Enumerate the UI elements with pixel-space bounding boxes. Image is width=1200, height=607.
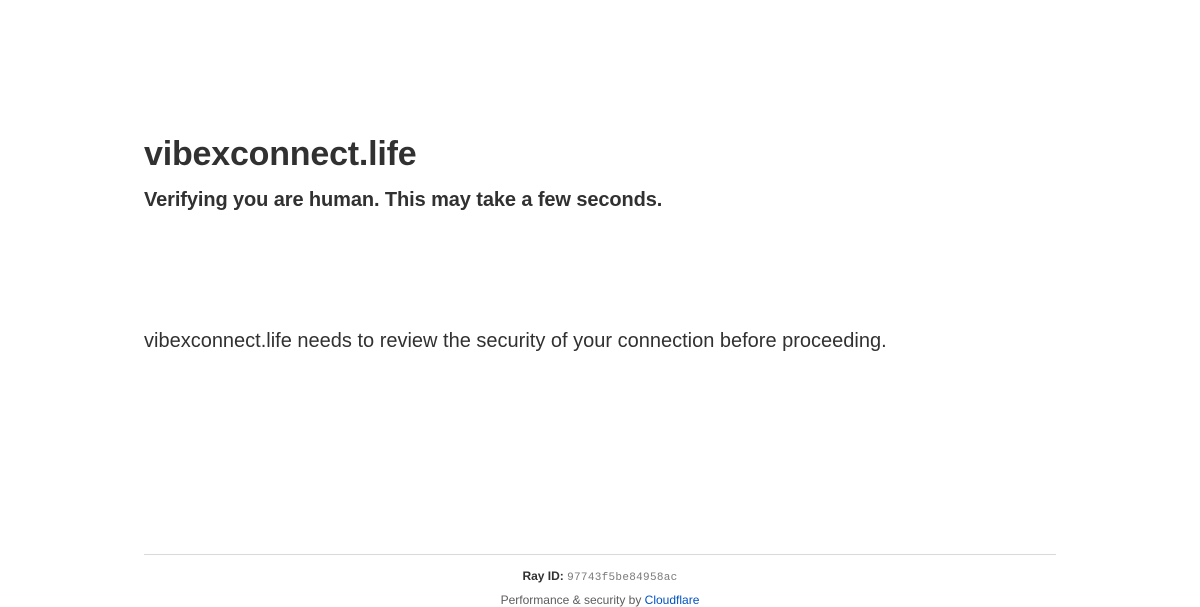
attribution-row: Performance & security by Cloudflare bbox=[144, 585, 1056, 607]
challenge-page: vibexconnect.life Verifying you are huma… bbox=[0, 0, 1200, 600]
ray-id-value: 97743f5be84958ac bbox=[567, 572, 677, 584]
attribution-prefix: Performance & security by bbox=[501, 593, 642, 607]
ray-id-label: Ray ID: bbox=[522, 569, 563, 583]
security-review-message: vibexconnect.life needs to review the se… bbox=[144, 319, 944, 359]
verification-subtitle: Verifying you are human. This may take a… bbox=[144, 175, 1056, 214]
cloudflare-link[interactable]: Cloudflare bbox=[645, 593, 700, 607]
challenge-content: vibexconnect.life Verifying you are huma… bbox=[144, 0, 1056, 359]
page-title: vibexconnect.life bbox=[144, 0, 1056, 175]
page-footer: Ray ID: 97743f5be84958ac Performance & s… bbox=[144, 554, 1056, 607]
turnstile-widget-slot[interactable] bbox=[144, 222, 444, 319]
ray-id-row: Ray ID: 97743f5be84958ac bbox=[144, 555, 1056, 585]
